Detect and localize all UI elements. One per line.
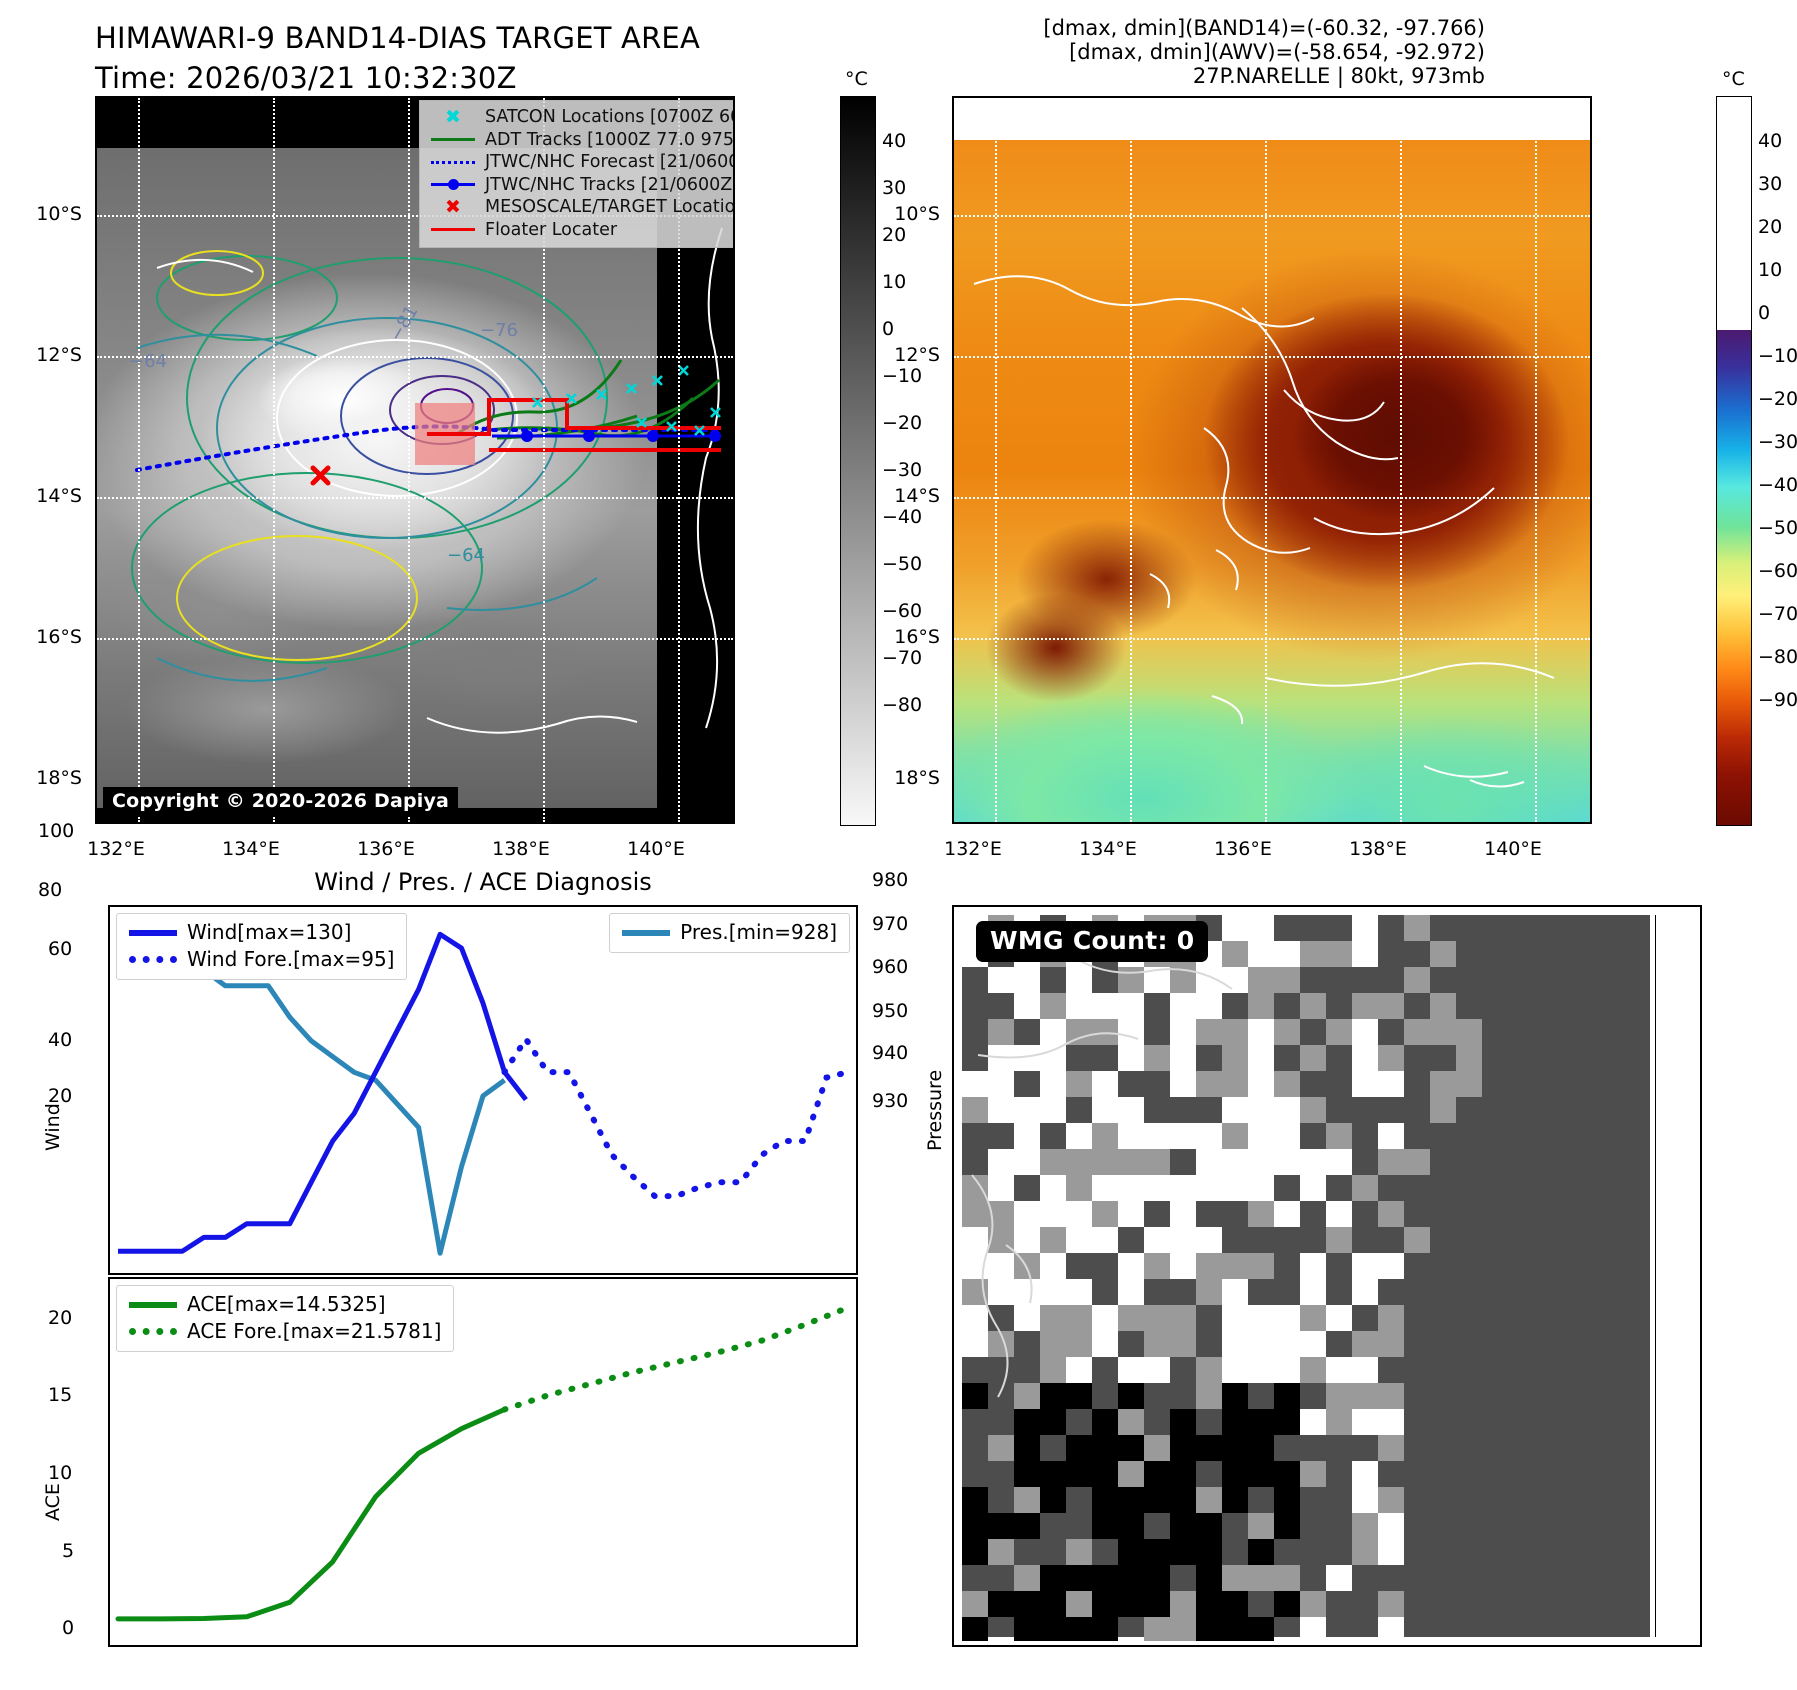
- legend-label: MESOSCALE/TARGET Location: [479, 196, 735, 219]
- map-right-lon-tick-4: 140°E: [1473, 838, 1553, 860]
- colorbar-right-tick-6: −20: [1758, 388, 1797, 410]
- pres-ytick-4: 970: [872, 913, 908, 935]
- map-gridline-lat-16s: [97, 638, 733, 640]
- legend-item-mesoscale-target[interactable]: ✖ MESOSCALE/TARGET Location: [427, 196, 735, 219]
- wind-pressure-chart[interactable]: Wind[max=130] Wind Fore.[max=95] Pres.[m…: [108, 905, 858, 1275]
- pres-ytick-3: 960: [872, 956, 908, 978]
- map-left-lat-tick-0: 10°S: [0, 203, 82, 225]
- colorbar-left-tick-5: −10: [882, 365, 922, 387]
- charts-title: Wind / Pres. / ACE Diagnosis: [108, 868, 858, 896]
- legend-label: ADT Tracks [1000Z 77.0 975.6]: [479, 129, 735, 152]
- colorbar-left-tick-1: 30: [882, 177, 906, 199]
- map-gridline-lat-14s: [97, 497, 733, 499]
- map-legend[interactable]: ✖ SATCON Locations [0700Z 60 982] ADT Tr…: [419, 100, 735, 248]
- map-right-gridline-lat-14s: [954, 497, 1590, 499]
- wind-ytick-2: 60: [48, 938, 72, 960]
- colorbar-right-tick-3: 10: [1758, 259, 1782, 281]
- colorbar-right-tick-5: −10: [1758, 345, 1797, 367]
- legend-item-satcon[interactable]: ✖ SATCON Locations [0700Z 60 982]: [427, 106, 735, 129]
- colorbar-right-tick-9: −50: [1758, 517, 1797, 539]
- legend-item-pressure[interactable]: Pres.[min=928]: [618, 919, 837, 946]
- legend-label: SATCON Locations [0700Z 60 982]: [479, 106, 735, 129]
- storm-summary: 27P.NARELLE | 80kt, 973mb: [1043, 64, 1485, 88]
- ace-chart[interactable]: ACE[max=14.5325] ACE Fore.[max=21.5781]: [108, 1277, 858, 1647]
- colorbar-left-tick-4: 0: [882, 318, 894, 340]
- map-left-lon-tick-3: 138°E: [481, 838, 561, 860]
- map-gridline-lon-136e: [408, 98, 410, 822]
- map-right-lon-tick-3: 138°E: [1338, 838, 1418, 860]
- wmg-cells: [962, 915, 1662, 1641]
- map-left-lon-tick-0: 132°E: [76, 838, 156, 860]
- legend-item-ace[interactable]: ACE[max=14.5325]: [125, 1291, 441, 1318]
- ir-color-map[interactable]: [952, 96, 1592, 824]
- colorbar-left-tick-3: 10: [882, 271, 906, 293]
- wmg-map-panel[interactable]: WMG Count: 0: [952, 905, 1702, 1647]
- wmg-count-badge: WMG Count: 0: [976, 921, 1208, 962]
- legend-item-ace-forecast[interactable]: ACE Fore.[max=21.5781]: [125, 1318, 441, 1345]
- legend-label: Wind Fore.[max=95]: [181, 946, 394, 973]
- colorbar-left-tick-12: −80: [882, 694, 922, 716]
- colorbar-right-title: °C: [1722, 68, 1745, 90]
- map-left-lat-tick-1: 12°S: [0, 344, 82, 366]
- wmg-field: [962, 915, 1650, 1637]
- colorbar-left-tick-11: −70: [882, 647, 922, 669]
- colorbar-left-tick-2: 20: [882, 224, 906, 246]
- legend-item-jtwc-tracks[interactable]: JTWC/NHC Tracks [21/0600Z]: [427, 174, 735, 197]
- x-marker-icon: ✖: [427, 198, 479, 217]
- x-marker-icon: ✖: [427, 108, 479, 127]
- colorbar-left-tick-9: −50: [882, 553, 922, 575]
- line-with-dot-icon: [427, 183, 479, 186]
- wind-ytick-1: 40: [48, 1029, 72, 1051]
- colorbar-right-tick-8: −40: [1758, 474, 1797, 496]
- dotted-line-icon: [125, 956, 181, 963]
- header-info: [dmax, dmin](BAND14)=(-60.32, -97.766) […: [1043, 16, 1485, 88]
- map-right-lat-tick-2: 14°S: [858, 485, 940, 507]
- colorbar-left-tick-8: −40: [882, 506, 922, 528]
- colorbar-right-tick-2: 20: [1758, 216, 1782, 238]
- dotted-line-icon: [427, 161, 479, 164]
- colorbar-left-title: °C: [845, 68, 868, 90]
- legend-label: Pres.[min=928]: [674, 919, 837, 946]
- map-right-gridline-lat-16s: [954, 638, 1590, 640]
- ace-ytick-1: 5: [62, 1540, 74, 1562]
- map-right-lon-tick-2: 136°E: [1203, 838, 1283, 860]
- contour-label-1: −64: [447, 545, 485, 566]
- ace-ytick-3: 15: [48, 1384, 72, 1406]
- solid-line-icon: [125, 930, 181, 936]
- colorbar-right-tick-1: 30: [1758, 173, 1782, 195]
- legend-item-wind-forecast[interactable]: Wind Fore.[max=95]: [125, 946, 394, 973]
- map-left-lat-tick-3: 16°S: [0, 626, 82, 648]
- colorbar-right-tick-7: −30: [1758, 431, 1797, 453]
- legend-label: ACE[max=14.5325]: [181, 1291, 386, 1318]
- contour-label-0: −64: [129, 351, 167, 372]
- legend-label: Floater Locater: [479, 219, 617, 242]
- colorbar-right-tick-12: −80: [1758, 646, 1797, 668]
- pres-ytick-0: 930: [872, 1090, 908, 1112]
- dotted-line-icon: [125, 1328, 181, 1335]
- map-right-lon-tick-0: 132°E: [933, 838, 1013, 860]
- solid-line-icon: [618, 930, 674, 936]
- legend-item-floater-locater[interactable]: Floater Locater: [427, 219, 735, 242]
- map-right-lat-tick-1: 12°S: [858, 344, 940, 366]
- title-line-2: Time: 2026/03/21 10:32:30Z: [95, 58, 700, 98]
- map-right-gridline-lon-132e: [995, 98, 997, 822]
- ace-ytick-0: 0: [62, 1617, 74, 1639]
- map-right-lat-tick-4: 18°S: [858, 767, 940, 789]
- map-left-lat-tick-2: 14°S: [0, 485, 82, 507]
- map-left-lon-tick-1: 134°E: [211, 838, 291, 860]
- legend-label: JTWC/NHC Tracks [21/0600Z]: [479, 174, 735, 197]
- colorbar-right-tick-13: −90: [1758, 689, 1797, 711]
- map-right-gridline-lon-140e: [1535, 98, 1537, 822]
- ace-ytick-2: 10: [48, 1462, 72, 1484]
- colorbar-right-tick-0: 40: [1758, 130, 1782, 152]
- dmax-dmin-awv: [dmax, dmin](AWV)=(-58.654, -92.972): [1043, 40, 1485, 64]
- copyright-notice: Copyright © 2020-2026 Dapiya: [103, 787, 458, 816]
- map-right-gridline-lon-136e: [1265, 98, 1267, 822]
- map-left-lon-tick-2: 136°E: [346, 838, 426, 860]
- map-right-lon-tick-1: 134°E: [1068, 838, 1148, 860]
- map-right-gridline-lat-12s: [954, 356, 1590, 358]
- map-gridline-lon-134e: [273, 98, 275, 822]
- title-line-1: HIMAWARI-9 BAND14-DIAS TARGET AREA: [95, 18, 700, 58]
- wind-legend[interactable]: Wind[max=130] Wind Fore.[max=95]: [116, 913, 407, 980]
- pressure-axis-label: Pressure: [924, 1031, 946, 1151]
- colorbar-left-tick-10: −60: [882, 600, 922, 622]
- colorbar-left-tick-7: −30: [882, 459, 922, 481]
- legend-item-jtwc-forecast[interactable]: JTWC/NHC Forecast [21/0600Z]: [427, 151, 735, 174]
- pres-ytick-2: 950: [872, 1000, 908, 1022]
- map-right-lat-tick-3: 16°S: [858, 626, 940, 648]
- legend-label: ACE Fore.[max=21.5781]: [181, 1318, 441, 1345]
- wind-ytick-4: 100: [38, 820, 74, 842]
- coastline-overlay-right: [954, 98, 1592, 824]
- ir-grayscale-map[interactable]: −64 −64 −76 −81 ✖ SATCON Locations [0700…: [95, 96, 735, 824]
- dashboard-root: HIMAWARI-9 BAND14-DIAS TARGET AREA Time:…: [0, 0, 1797, 1690]
- map-gridline-lon-132e: [138, 98, 140, 822]
- colorbar-right: [1716, 96, 1752, 826]
- colorbar-left-tick-6: −20: [882, 412, 922, 434]
- colorbar-right-tick-11: −70: [1758, 603, 1797, 625]
- legend-item-adt-tracks[interactable]: ADT Tracks [1000Z 77.0 975.6]: [427, 129, 735, 152]
- page-title: HIMAWARI-9 BAND14-DIAS TARGET AREA Time:…: [95, 18, 700, 98]
- solid-line-icon: [427, 138, 479, 141]
- map-gridline-lat-12s: [97, 356, 733, 358]
- wind-ytick-0: 20: [48, 1085, 72, 1107]
- dmax-dmin-band14: [dmax, dmin](BAND14)=(-60.32, -97.766): [1043, 16, 1485, 40]
- legend-item-wind[interactable]: Wind[max=130]: [125, 919, 394, 946]
- wmg-sidebar: [1655, 915, 1692, 1637]
- legend-label: JTWC/NHC Forecast [21/0600Z]: [479, 151, 735, 174]
- ace-legend[interactable]: ACE[max=14.5325] ACE Fore.[max=21.5781]: [116, 1285, 454, 1352]
- legend-label: Wind[max=130]: [181, 919, 351, 946]
- contour-label-2: −76: [480, 320, 518, 341]
- ace-ytick-4: 20: [48, 1307, 72, 1329]
- solid-line-icon: [125, 1302, 181, 1308]
- colorbar-right-tick-10: −60: [1758, 560, 1797, 582]
- pres-ytick-5: 980: [872, 869, 908, 891]
- map-left-lat-tick-4: 18°S: [0, 767, 82, 789]
- map-right-gridline-lon-134e: [1130, 98, 1132, 822]
- pressure-legend[interactable]: Pres.[min=928]: [609, 913, 850, 953]
- solid-line-icon: [427, 228, 479, 231]
- colorbar-right-tick-4: 0: [1758, 302, 1770, 324]
- map-left-lon-tick-4: 140°E: [616, 838, 696, 860]
- pres-ytick-1: 940: [872, 1042, 908, 1064]
- map-right-gridline-lon-138e: [1400, 98, 1402, 822]
- wind-ytick-3: 80: [38, 879, 62, 901]
- colorbar-left-tick-0: 40: [882, 130, 906, 152]
- map-right-lat-tick-0: 10°S: [858, 203, 940, 225]
- map-right-gridline-lat-10s: [954, 215, 1590, 217]
- ace-axis-label: ACE: [42, 1401, 64, 1521]
